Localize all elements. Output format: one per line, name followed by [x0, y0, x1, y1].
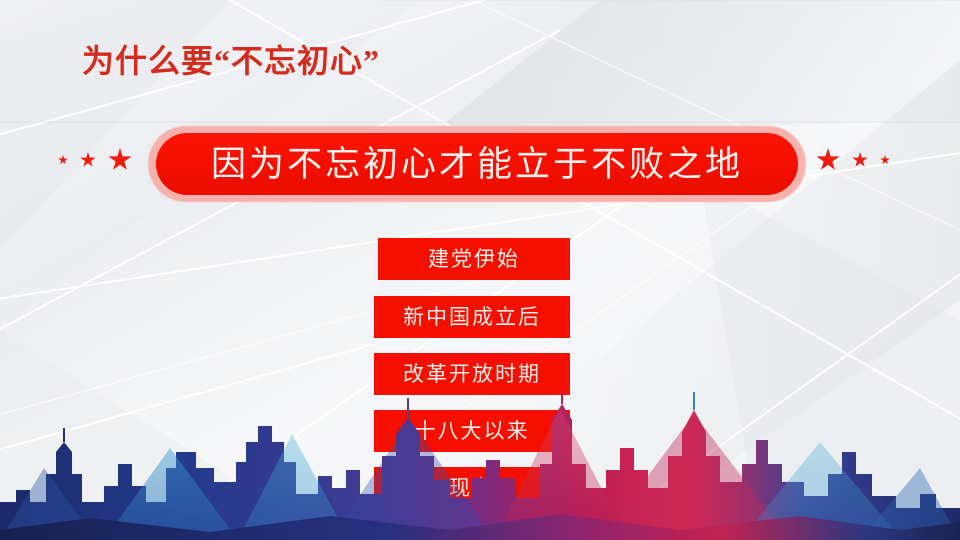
stage-label: 改革开放时期: [403, 364, 541, 385]
stage-box[interactable]: 新中国成立后: [374, 296, 570, 338]
stage-label: 新中国成立后: [403, 307, 541, 328]
stage-box[interactable]: 改革开放时期: [374, 353, 570, 395]
stage-box[interactable]: 建党伊始: [378, 238, 570, 280]
slide-canvas: 为什么要“不忘初心” 因为不忘初心才能立于不败之地 建党伊始新中国成立后改革开放…: [0, 0, 960, 540]
city-skyline: [0, 390, 960, 540]
stage-label: 建党伊始: [428, 249, 520, 270]
